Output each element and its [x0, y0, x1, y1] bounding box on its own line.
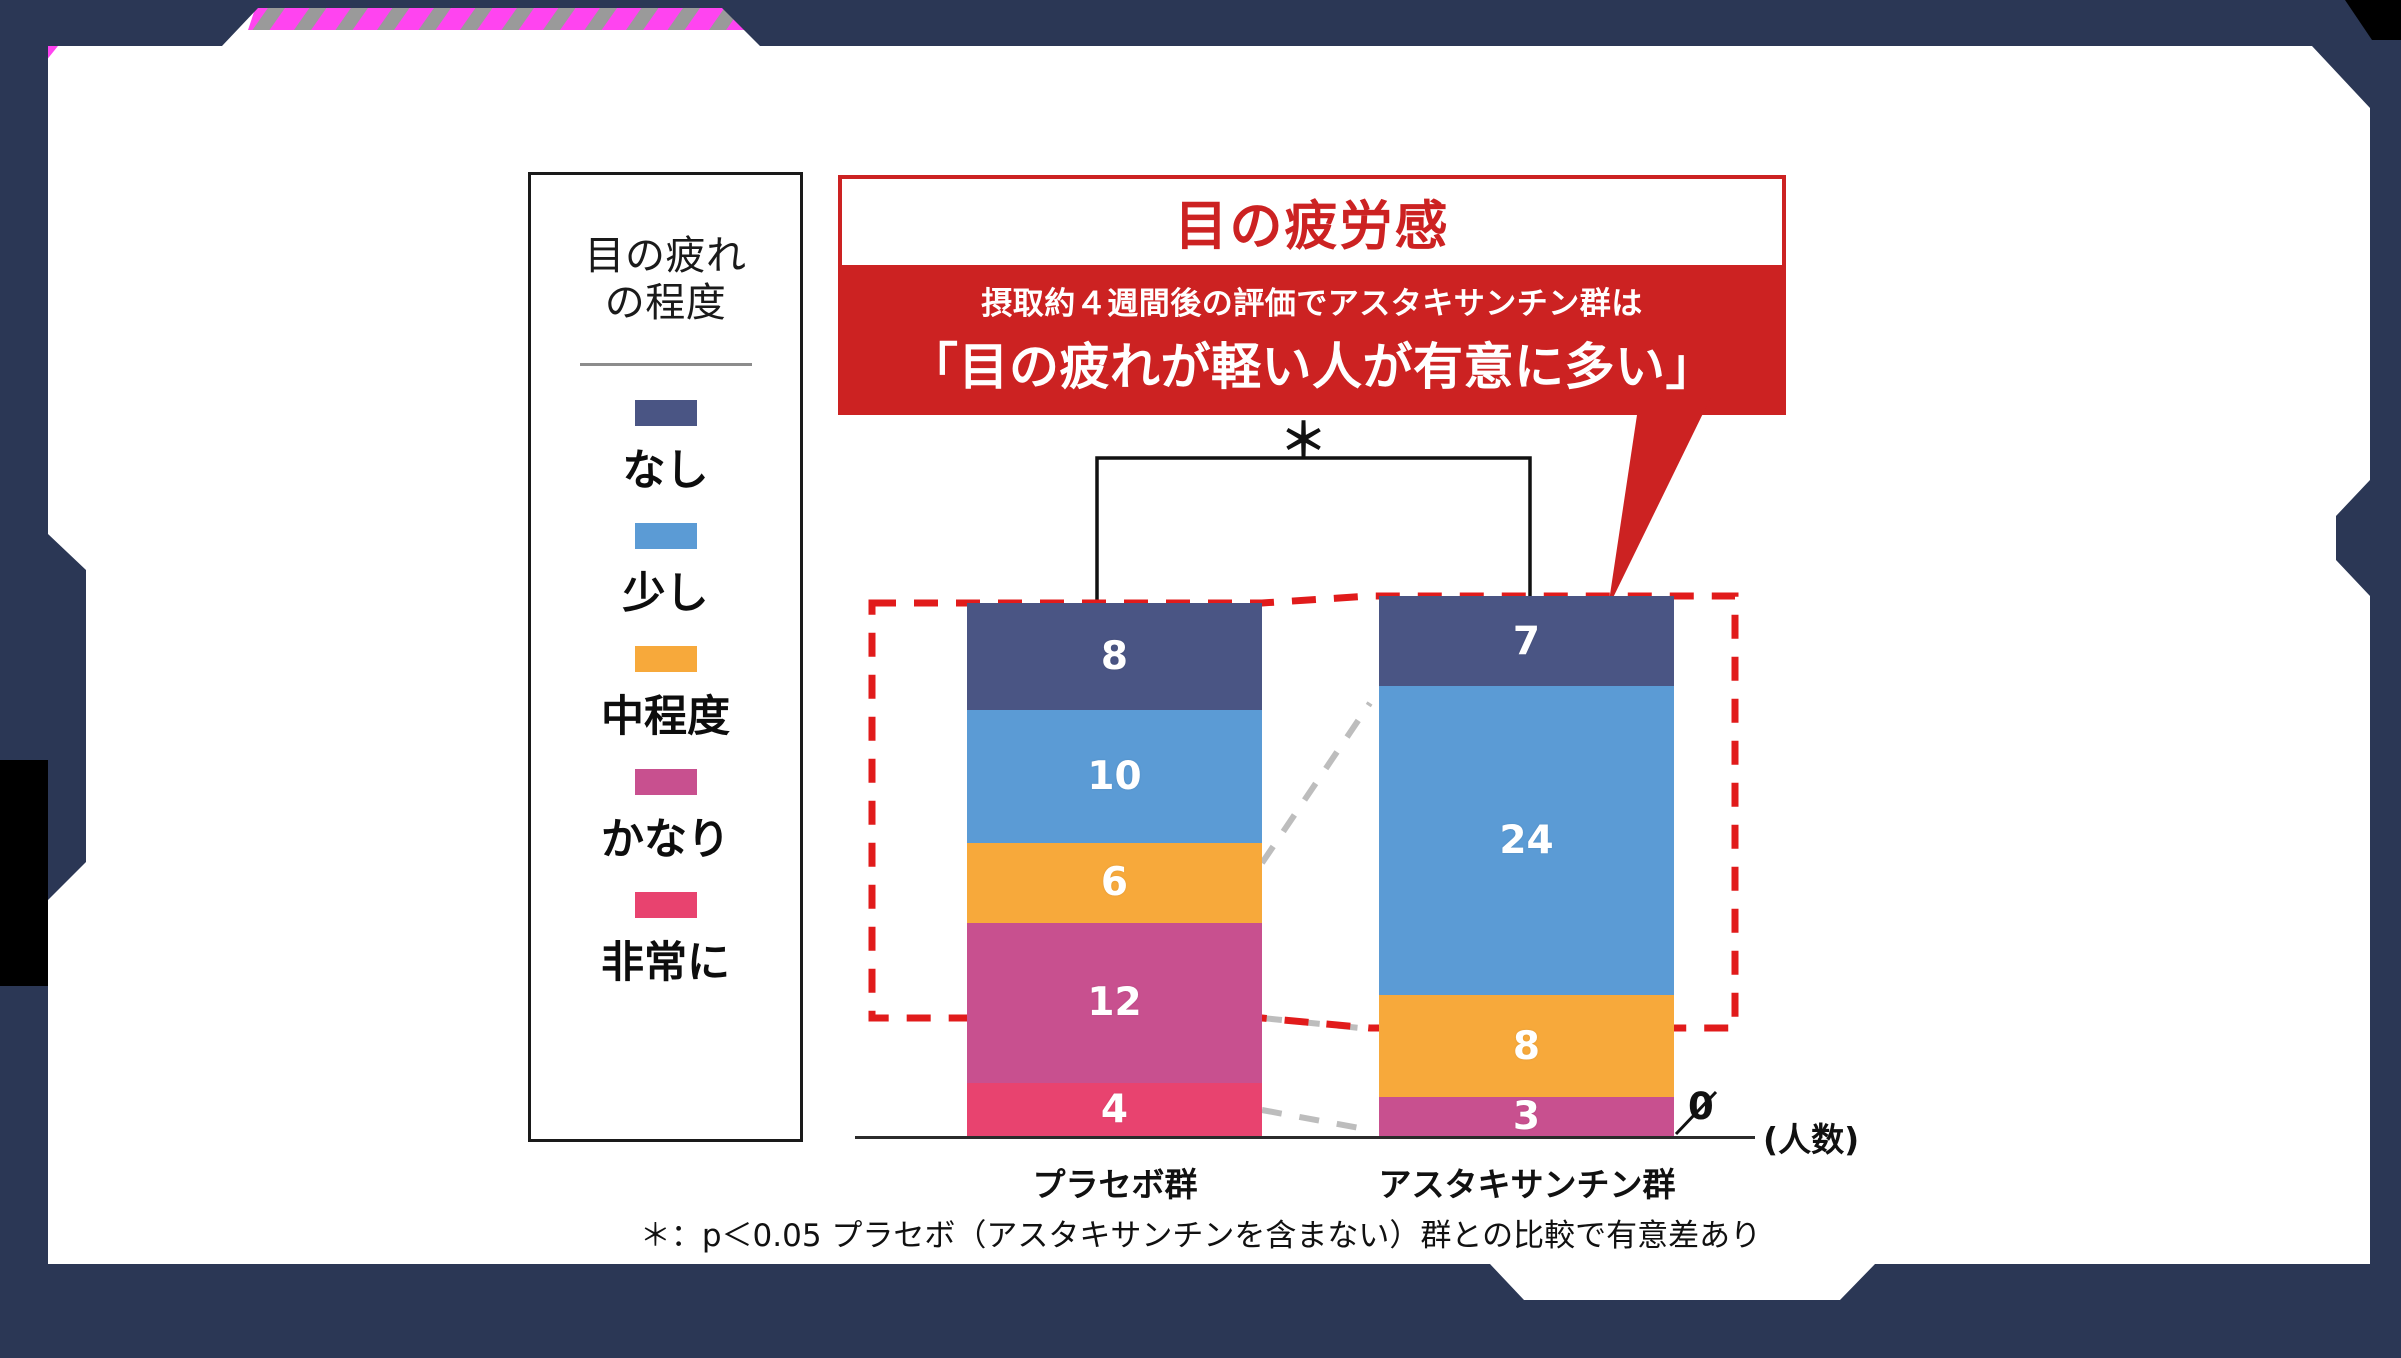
category-label-placebo: プラセボ群 — [905, 1158, 1325, 1206]
stacked-bar-chart: ＊ 8 10 6 12 4 7 24 — [0, 0, 2401, 1358]
zero-value-label: 0 — [1688, 1085, 1714, 1128]
zero-leader-layer — [0, 0, 2401, 1358]
category-label-astaxanthin: アスタキサンチン群 — [1317, 1158, 1737, 1206]
footnote: ＊：p＜0.05 プラセボ（アスタキサンチンを含まない）群との比較で有意差あり — [0, 1210, 2401, 1255]
axis-unit-label: (人数) — [1763, 1113, 1859, 1161]
slide-root: 目の疲れ の程度 なし 少し 中程度 かなり 非常に — [0, 0, 2401, 1358]
